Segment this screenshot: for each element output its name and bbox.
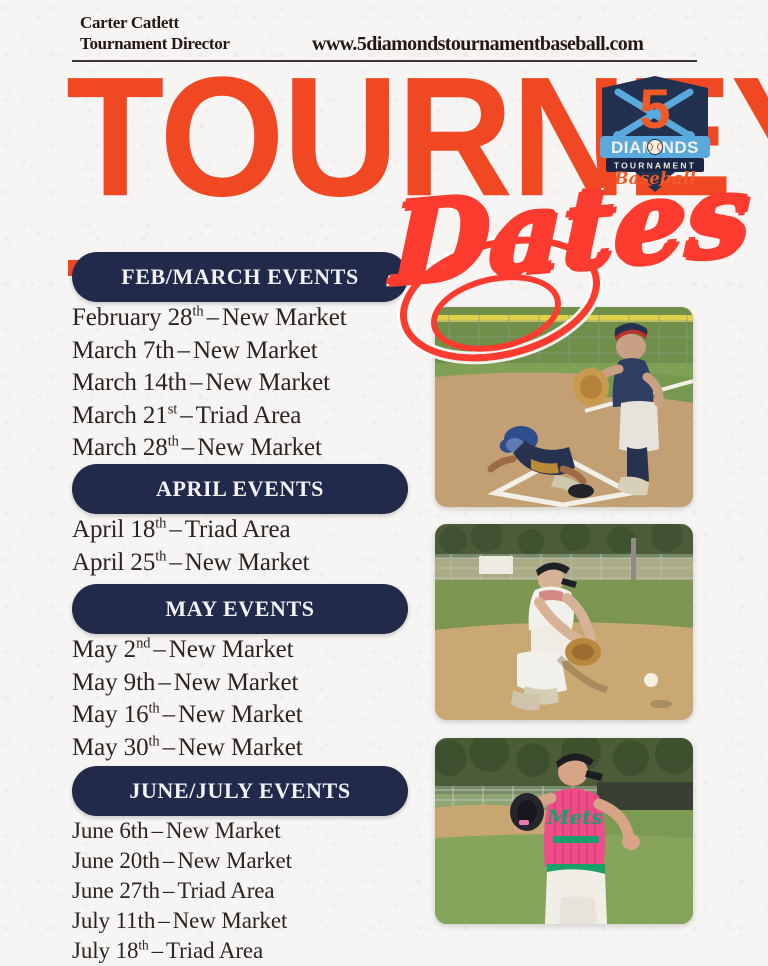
event-row: March 7th–New Market — [72, 335, 347, 368]
event-row: July 11th–New Market — [72, 906, 292, 936]
event-location: Triad Area — [166, 938, 263, 963]
event-separator: – — [160, 848, 177, 873]
event-row: February 28th–New Market — [72, 302, 347, 335]
section-heading-label: JUNE/JULY EVENTS — [129, 778, 350, 804]
event-separator: – — [160, 701, 178, 728]
section-header-may[interactable]: MAY EVENTS — [72, 584, 408, 634]
section-header-april[interactable]: APRIL EVENTS — [72, 464, 408, 514]
event-date-suffix: th — [155, 548, 166, 564]
event-list-june-july: June 6th–New Market June 20th–New Market… — [72, 816, 292, 966]
event-location: New Market — [185, 549, 310, 576]
event-separator: – — [187, 369, 205, 396]
event-location: Triad Area — [185, 516, 291, 543]
event-row: May 9th–New Market — [72, 667, 303, 700]
event-date: March 14th — [72, 369, 187, 396]
event-separator: – — [149, 938, 166, 963]
event-row: April 25th–New Market — [72, 547, 309, 580]
event-location: New Market — [197, 434, 322, 461]
event-location: New Market — [193, 337, 318, 364]
event-location: Triad Area — [196, 402, 302, 429]
event-row: May 2nd–New Market — [72, 634, 303, 667]
flyer-page: Carter Catlett Tournament Director www.5… — [0, 0, 768, 960]
event-date: May 30 — [72, 734, 148, 761]
event-date: March 21 — [72, 402, 168, 429]
svg-text:5: 5 — [639, 77, 670, 140]
event-date: March 28 — [72, 434, 168, 461]
event-separator: – — [175, 337, 193, 364]
event-location: New Market — [178, 734, 303, 761]
event-row: June 20th–New Market — [72, 846, 292, 876]
event-date-suffix: th — [168, 434, 179, 450]
section-header-feb-march[interactable]: FEB/MARCH EVENTS — [72, 252, 408, 302]
event-date-suffix: th — [155, 516, 166, 532]
event-date: June 6th — [72, 818, 149, 843]
event-row: June 6th–New Market — [72, 816, 292, 846]
section-heading-label: APRIL EVENTS — [156, 476, 324, 502]
event-date-suffix: st — [168, 401, 177, 417]
event-separator: – — [179, 434, 197, 461]
events-column: FEB/MARCH EVENTS February 28th–New Marke… — [0, 0, 430, 960]
section-heading-label: FEB/MARCH EVENTS — [121, 264, 359, 290]
photo-pitcher-throwing: Mets — [435, 738, 693, 924]
event-separator: – — [155, 669, 173, 696]
event-row: March 21st–Triad Area — [72, 400, 347, 433]
event-date: May 16 — [72, 701, 148, 728]
event-date: May 2 — [72, 636, 136, 663]
event-row: March 28th–New Market — [72, 432, 347, 465]
event-separator: – — [177, 402, 195, 429]
five-diamonds-logo: 5 DIAM NDS TOURNAMENT Baseball — [592, 72, 718, 192]
event-location: New Market — [166, 818, 281, 843]
event-location: Triad Area — [177, 878, 274, 903]
svg-text:Mets: Mets — [546, 805, 602, 829]
event-row: March 14th–New Market — [72, 367, 347, 400]
event-date: June 27th — [72, 878, 160, 903]
event-date: May 9th — [72, 669, 155, 696]
event-separator: – — [155, 908, 172, 933]
event-list-feb-march: February 28th–New Market March 7th–New M… — [72, 302, 347, 465]
event-separator: – — [160, 734, 178, 761]
section-heading-label: MAY EVENTS — [165, 596, 314, 622]
event-date: July 18 — [72, 938, 138, 963]
event-list-april: April 18th–Triad Area April 25th–New Mar… — [72, 514, 309, 579]
event-date-suffix: th — [148, 733, 159, 749]
event-location: New Market — [177, 848, 292, 873]
event-date: June 20th — [72, 848, 160, 873]
event-separator: – — [149, 818, 166, 843]
event-row: June 27th–Triad Area — [72, 876, 292, 906]
event-separator: – — [166, 549, 184, 576]
event-list-may: May 2nd–New Market May 9th–New Market Ma… — [72, 634, 303, 764]
event-date: July 11th — [72, 908, 155, 933]
event-row: April 18th–Triad Area — [72, 514, 309, 547]
event-separator: – — [160, 878, 177, 903]
event-date: April 25 — [72, 549, 155, 576]
event-date-suffix: nd — [136, 636, 150, 652]
event-location: New Market — [205, 369, 330, 396]
event-row: May 16th–New Market — [72, 699, 303, 732]
event-location: New Market — [178, 701, 303, 728]
event-date-suffix: th — [138, 937, 148, 952]
event-date-suffix: th — [148, 701, 159, 717]
event-separator: – — [204, 304, 222, 331]
event-separator: – — [166, 516, 184, 543]
event-row: July 18th–Triad Area — [72, 936, 292, 966]
event-separator: – — [150, 636, 168, 663]
event-date: March 7th — [72, 337, 175, 364]
event-location: New Market — [169, 636, 294, 663]
event-date: February 28 — [72, 304, 192, 331]
event-date: April 18 — [72, 516, 155, 543]
photo-infielder-fielding — [435, 524, 693, 720]
section-header-june-july[interactable]: JUNE/JULY EVENTS — [72, 766, 408, 816]
event-location: New Market — [173, 908, 288, 933]
event-date-suffix: th — [192, 304, 203, 320]
event-location: New Market — [222, 304, 347, 331]
event-row: May 30th–New Market — [72, 732, 303, 765]
event-location: New Market — [174, 669, 299, 696]
